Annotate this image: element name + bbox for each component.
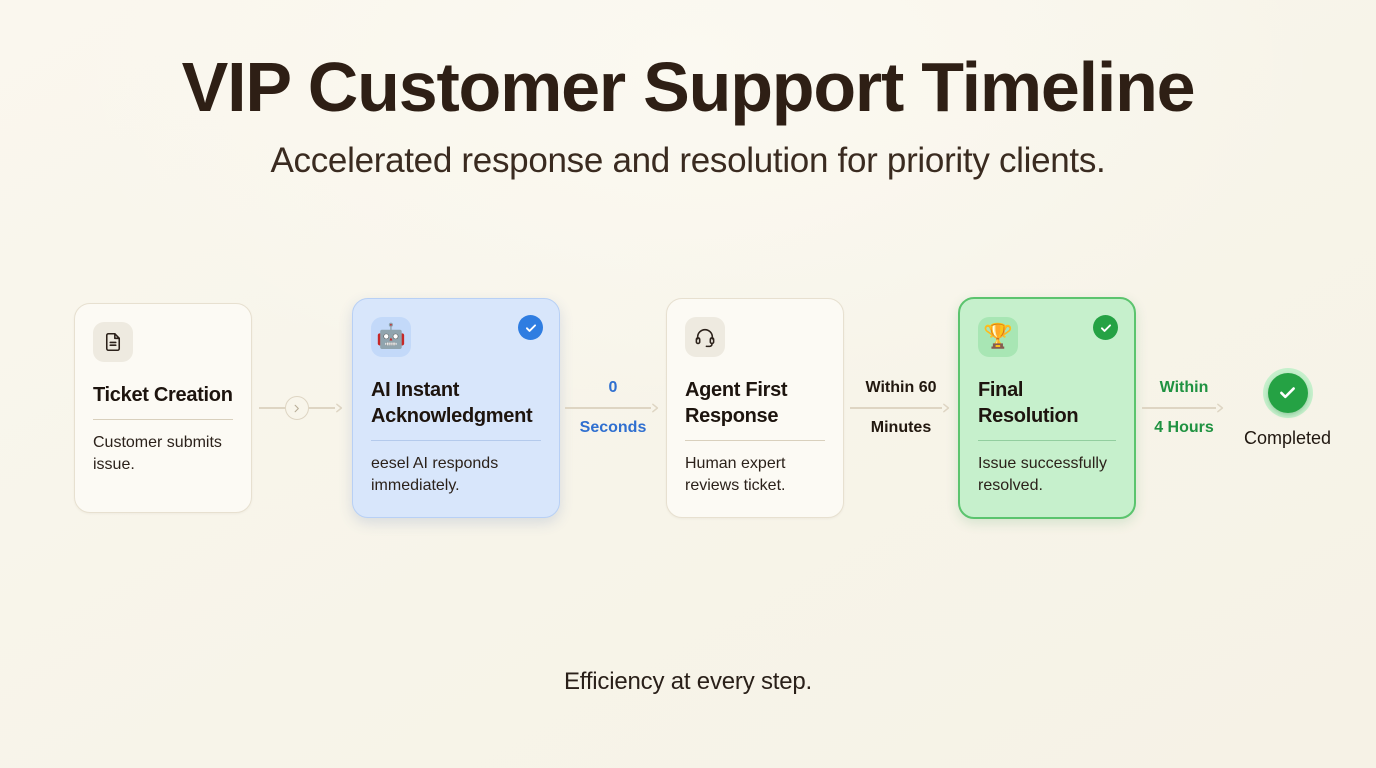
trophy-emoji: 🏆 — [983, 325, 1013, 349]
check-circle-icon — [1268, 373, 1308, 413]
timeline-row: Ticket Creation Customer submits issue. — [0, 288, 1376, 528]
timeline-card-ai-instant-acknowledgment[interactable]: 🤖 AI Instant Acknowledgment eesel AI res… — [352, 298, 560, 518]
arrow-head-icon — [1216, 402, 1227, 414]
card-divider — [371, 440, 541, 441]
robot-icon: 🤖 — [371, 317, 411, 357]
card-description: eesel AI responds immediately. — [371, 453, 541, 497]
connector-arrow — [1142, 402, 1227, 414]
card-title: Final Resolution — [978, 377, 1116, 429]
connector-arrow — [259, 396, 346, 420]
connector-label-top: Within 60 — [866, 378, 937, 398]
timeline-card-agent-first-response[interactable]: Agent First Response Human expert review… — [666, 298, 844, 518]
connector-label-bottom: Minutes — [871, 418, 931, 438]
connector-label-top: Within — [1160, 378, 1209, 398]
card-description: Human expert reviews ticket. — [685, 453, 825, 497]
connector-label-bottom: Seconds — [580, 418, 647, 438]
card-description: Issue successfully resolved. — [978, 453, 1116, 497]
card-divider — [978, 440, 1116, 441]
chevron-right-icon[interactable] — [285, 396, 309, 420]
header: VIP Customer Support Timeline Accelerate… — [0, 0, 1376, 181]
timeline-card-final-resolution[interactable]: 🏆 Final Resolution Issue successfully re… — [958, 297, 1136, 519]
connector-zero-seconds: 0 Seconds — [560, 303, 666, 513]
completed-marker: Completed — [1244, 303, 1331, 513]
footer-caption: Efficiency at every step. — [0, 668, 1376, 696]
connector-arrow — [565, 402, 662, 414]
connector-within-4-hours: Within 4 Hours — [1136, 303, 1232, 513]
arrow-head-icon — [651, 402, 662, 414]
completed-glow-ring — [1263, 368, 1313, 418]
card-divider — [93, 419, 233, 420]
timeline-infographic: VIP Customer Support Timeline Accelerate… — [0, 0, 1376, 768]
headset-icon — [685, 317, 725, 357]
trophy-icon: 🏆 — [978, 317, 1018, 357]
completed-label: Completed — [1244, 428, 1331, 449]
connector-label-bottom: 4 Hours — [1154, 418, 1214, 438]
arrow-head-icon — [942, 402, 953, 414]
connector-label-top: 0 — [609, 378, 618, 398]
robot-emoji: 🤖 — [376, 325, 406, 349]
check-badge-icon — [1093, 315, 1118, 340]
card-title: AI Instant Acknowledgment — [371, 377, 541, 429]
page-title: VIP Customer Support Timeline — [0, 52, 1376, 123]
page-subtitle: Accelerated response and resolution for … — [0, 141, 1376, 181]
check-badge-icon — [518, 315, 543, 340]
arrow-head-icon — [335, 402, 346, 414]
connector-within-60-minutes: Within 60 Minutes — [844, 303, 958, 513]
card-divider — [685, 440, 825, 441]
card-description: Customer submits issue. — [93, 432, 233, 476]
connector-chevron-1 — [252, 303, 352, 513]
timeline-card-ticket-creation[interactable]: Ticket Creation Customer submits issue. — [74, 303, 252, 513]
card-title: Agent First Response — [685, 377, 825, 429]
connector-arrow — [850, 402, 953, 414]
document-icon — [93, 322, 133, 362]
card-title: Ticket Creation — [93, 382, 233, 408]
